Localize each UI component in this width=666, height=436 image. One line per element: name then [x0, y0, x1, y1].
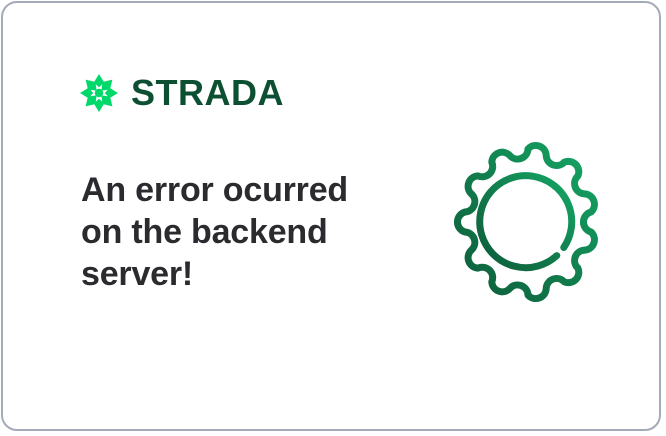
error-message-line: server! — [81, 253, 381, 295]
error-message-line: An error ocurred — [81, 169, 381, 211]
error-card: STRADA An error ocurred on the backend s… — [1, 1, 661, 431]
brand-logo: STRADA — [79, 73, 284, 113]
brand-wordmark: STRADA — [131, 75, 284, 111]
gear-outline-icon — [443, 137, 613, 307]
strada-asterisk-icon — [79, 73, 119, 113]
error-message-line: on the backend — [81, 211, 381, 253]
error-message: An error ocurred on the backend server! — [81, 169, 381, 295]
